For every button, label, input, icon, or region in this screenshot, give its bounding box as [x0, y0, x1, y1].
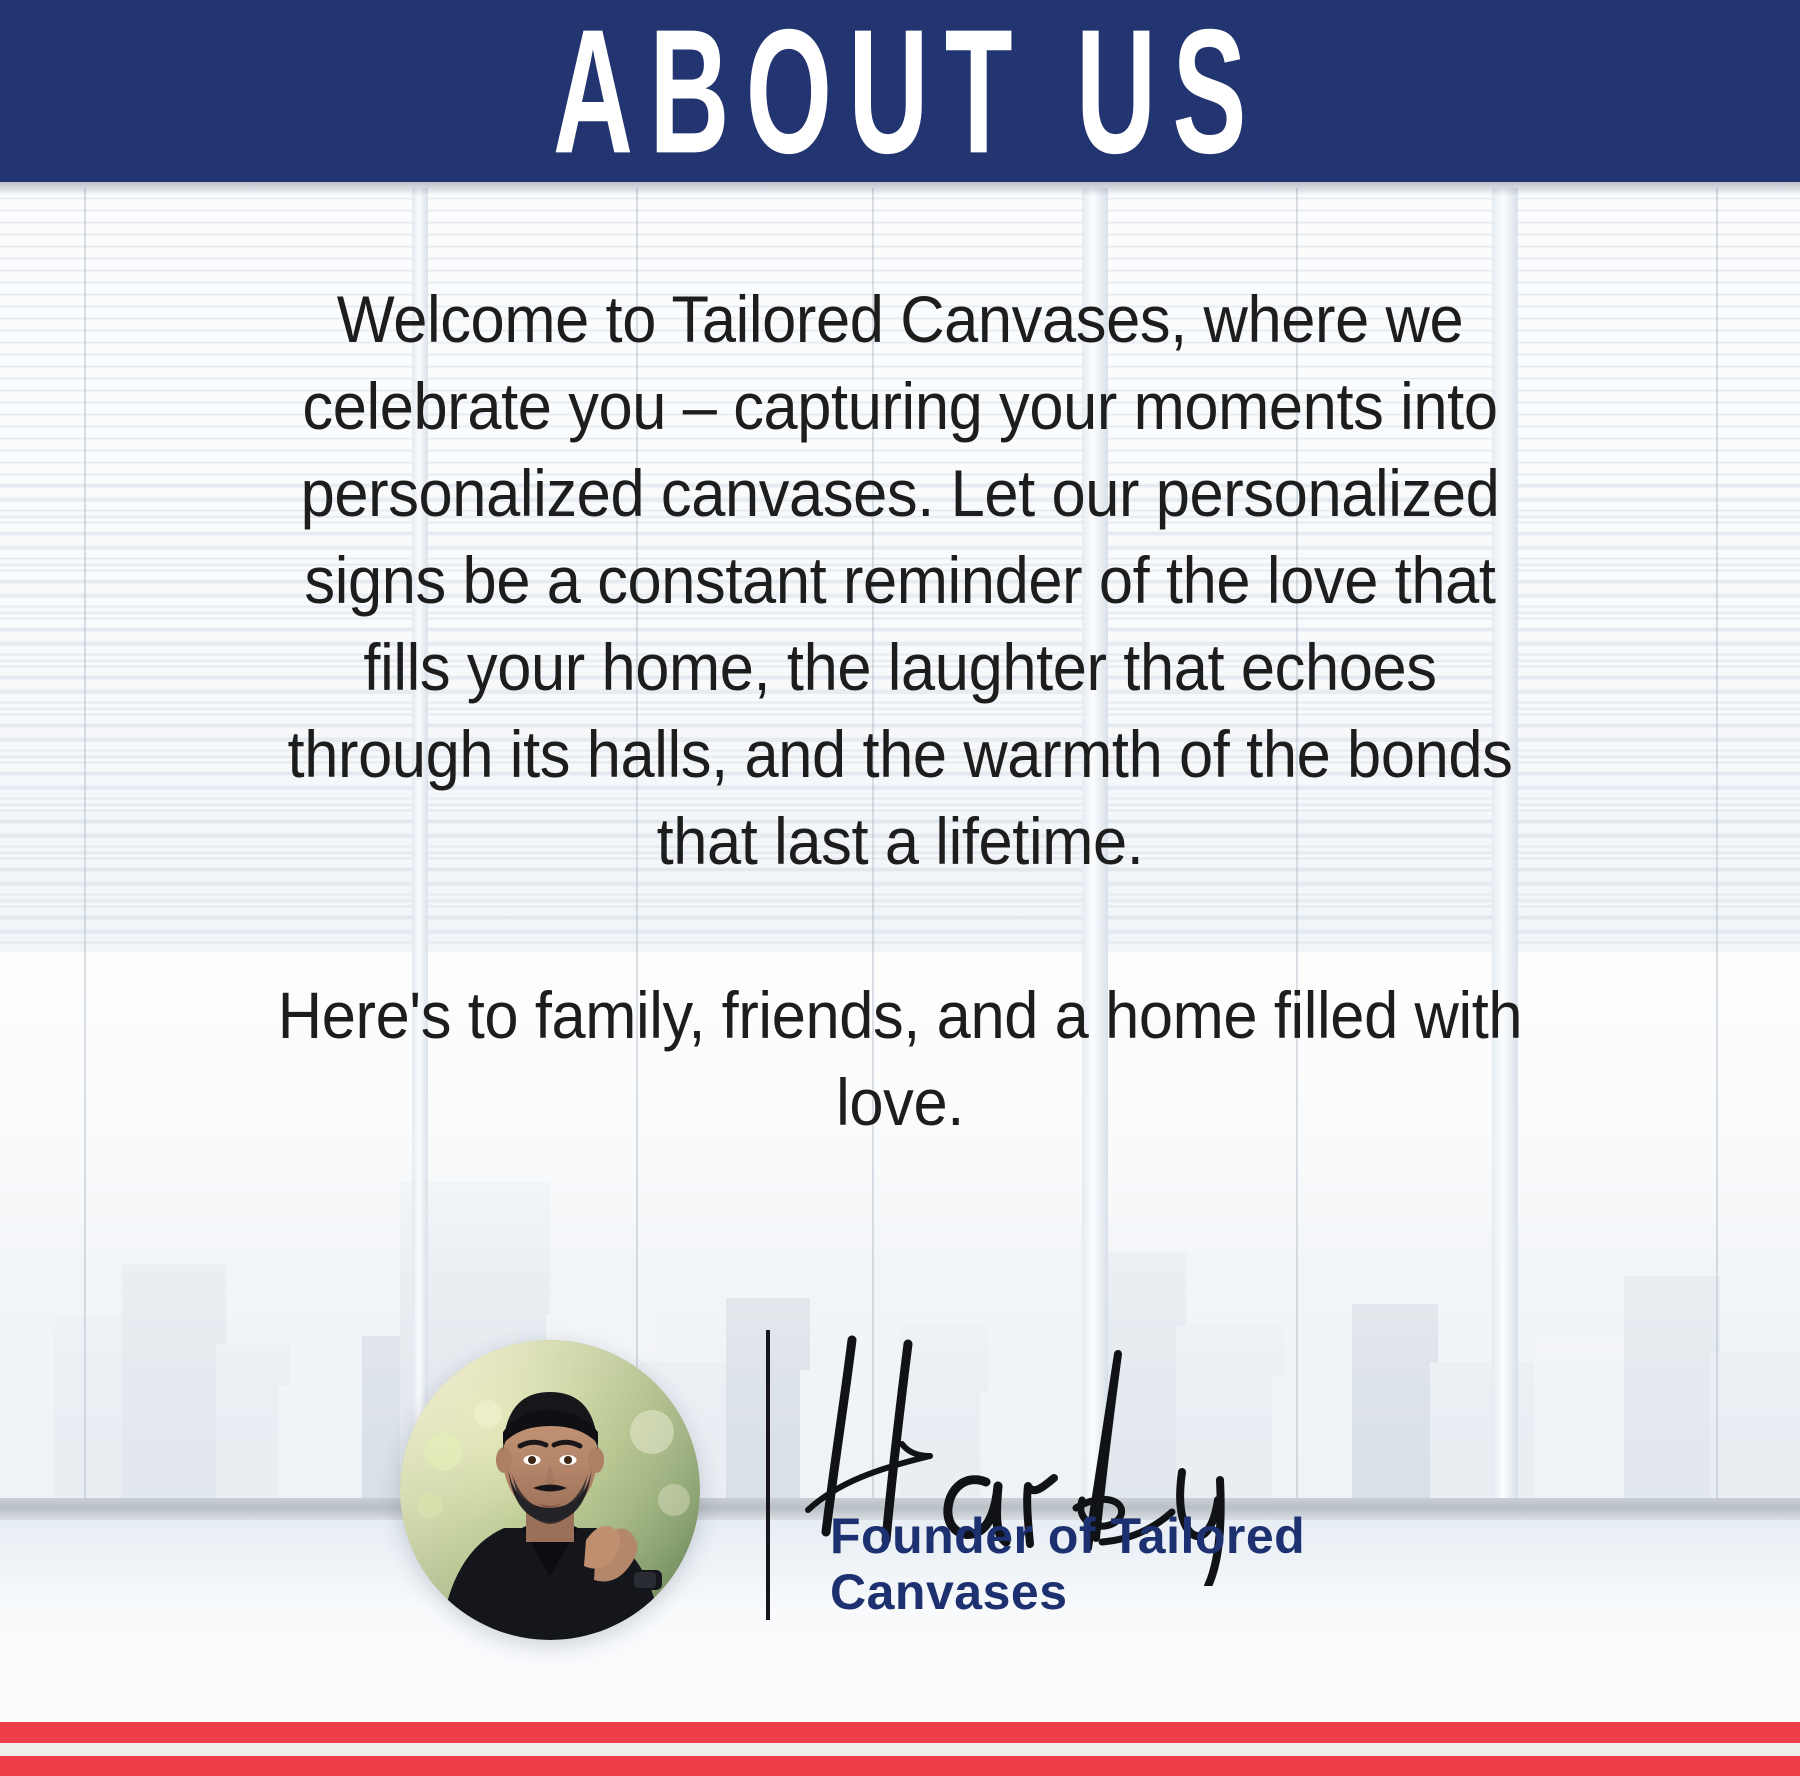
footer-bar-bottom [0, 1756, 1800, 1776]
header-band: ABOUT US [0, 0, 1800, 182]
signature-block: Founder of Tailored Canvases [0, 1316, 1800, 1646]
window-mullion [1716, 188, 1718, 1512]
window-mullion [84, 188, 86, 1512]
page-title: ABOUT US [537, 3, 1263, 180]
about-us-card: ABOUT US Welcome to Tailored Canvases, w… [0, 0, 1800, 1776]
footer-bar-gap [0, 1743, 1800, 1756]
paragraph-2: Here's to family, friends, and a home fi… [258, 972, 1541, 1146]
role-line-1: Founder of Tailored [830, 1508, 1390, 1564]
signature-divider [766, 1330, 770, 1620]
role-line-2: Canvases [830, 1564, 1390, 1620]
header-drop-shadow [0, 182, 1800, 196]
about-copy: Welcome to Tailored Canvases, where we c… [258, 276, 1541, 1146]
avatar [400, 1340, 700, 1640]
founder-role: Founder of Tailored Canvases [830, 1508, 1390, 1620]
footer-bar-top [0, 1722, 1800, 1743]
paragraph-1: Welcome to Tailored Canvases, where we c… [258, 276, 1541, 885]
paragraph-spacer [258, 885, 1541, 972]
